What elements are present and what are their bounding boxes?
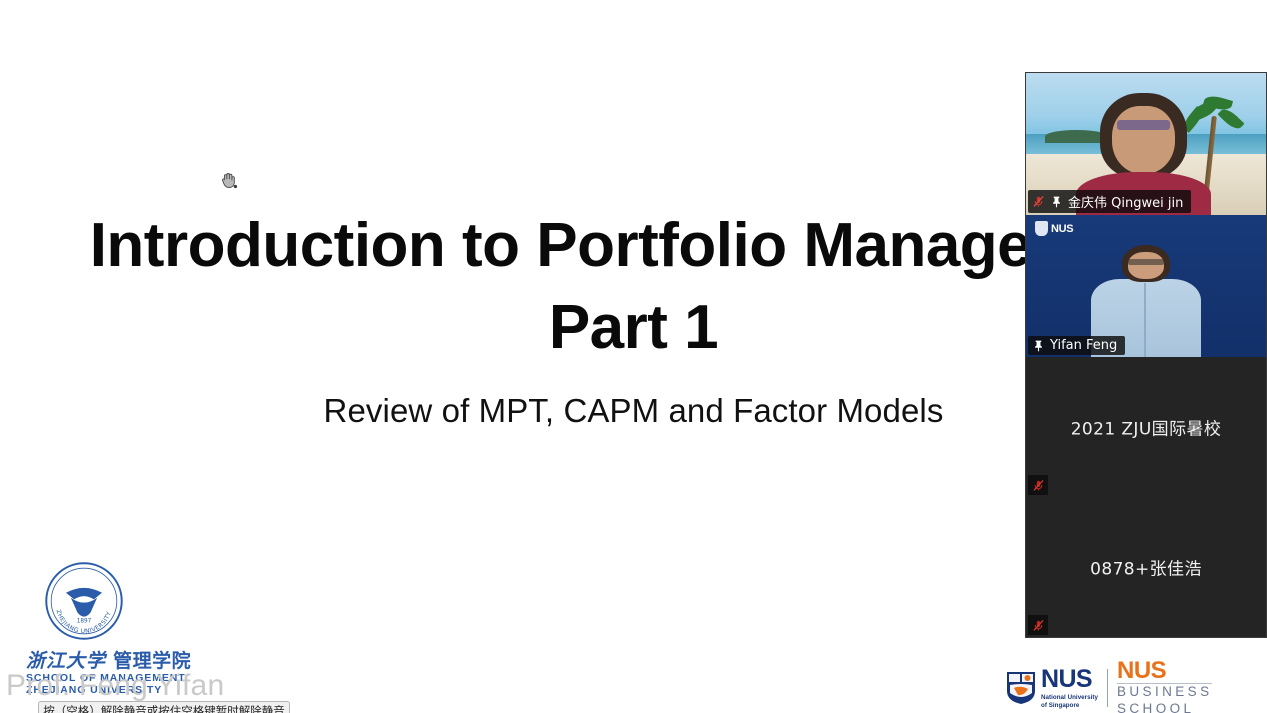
participant-name: 2021 ZJU国际暑校 <box>1026 415 1266 440</box>
nbs-wordmark: NUS <box>1117 659 1212 683</box>
participant-name: 0878+张佳浩 <box>1026 555 1266 580</box>
nus-logo-block: NUS National University of Singapore NUS… <box>1006 659 1212 713</box>
nus-shield-icon <box>1006 671 1036 705</box>
pin-icon <box>1032 339 1045 352</box>
participant-name-badge: 金庆伟 Qingwei jin <box>1028 190 1191 213</box>
microphone-muted-icon <box>1032 479 1045 492</box>
participant-glasses <box>1117 120 1170 130</box>
nus-watermark-shield-icon <box>1035 221 1048 236</box>
participant-face <box>1112 106 1174 174</box>
nbs-line2: BUSINESS <box>1117 683 1212 701</box>
participant-name-badge: Yifan Feng <box>1028 336 1125 355</box>
nus-primary-logo: NUS National University of Singapore <box>1006 667 1098 709</box>
video-tile-zhang-jiahao[interactable]: 0878+张佳浩 <box>1026 497 1266 637</box>
presenter-name: Prof. Feng Yifan <box>6 669 426 703</box>
nus-wordmark: NUS <box>1041 667 1098 692</box>
video-tile-yifan-feng[interactable]: NUS Yifan Feng <box>1026 215 1266 357</box>
unmute-hint-tooltip: 按（空格）解除静音或按住空格键暂时解除静音 <box>38 701 290 713</box>
nus-watermark-label: NUS <box>1051 223 1073 235</box>
mute-indicator <box>1028 615 1048 635</box>
participant-video-filmstrip[interactable]: 金庆伟 Qingwei jin NUS Yifan Feng <box>1025 72 1267 638</box>
nus-sub-line2: of Singapore <box>1041 702 1098 710</box>
nus-logo-divider <box>1107 669 1108 707</box>
nus-sub-line1: National University <box>1041 694 1098 702</box>
zoom-screenshare-window: Introduction to Portfolio Management Par… <box>0 0 1267 713</box>
nus-business-school-logo: NUS BUSINESS SCHOOL <box>1117 659 1212 713</box>
participant-name: 金庆伟 Qingwei jin <box>1068 192 1183 211</box>
zhejiang-university-seal-icon: 1897 ZHEJIANG UNIVERSITY <box>43 560 125 642</box>
island-shape <box>1045 130 1107 143</box>
microphone-muted-icon <box>1032 195 1045 208</box>
video-tile-zju-summer-school[interactable]: 2021 ZJU国际暑校 <box>1026 357 1266 497</box>
pin-icon <box>1050 195 1063 208</box>
svg-text:1897: 1897 <box>77 618 92 624</box>
participant-shirt-placket <box>1144 283 1146 357</box>
palm-leaf-shape <box>1217 105 1244 132</box>
nus-watermark: NUS <box>1035 221 1073 236</box>
mute-indicator <box>1028 475 1048 495</box>
participant-face <box>1128 252 1164 279</box>
slide-title-line1: Introduction to Portfolio Management <box>90 211 1178 280</box>
participant-glasses <box>1128 259 1164 265</box>
video-tile-qingwei-jin[interactable]: 金庆伟 Qingwei jin <box>1026 73 1266 215</box>
microphone-muted-icon <box>1032 619 1045 632</box>
nbs-line3: SCHOOL <box>1117 701 1212 713</box>
participant-name: Yifan Feng <box>1050 338 1117 353</box>
grab-hand-cursor-icon <box>218 170 240 192</box>
